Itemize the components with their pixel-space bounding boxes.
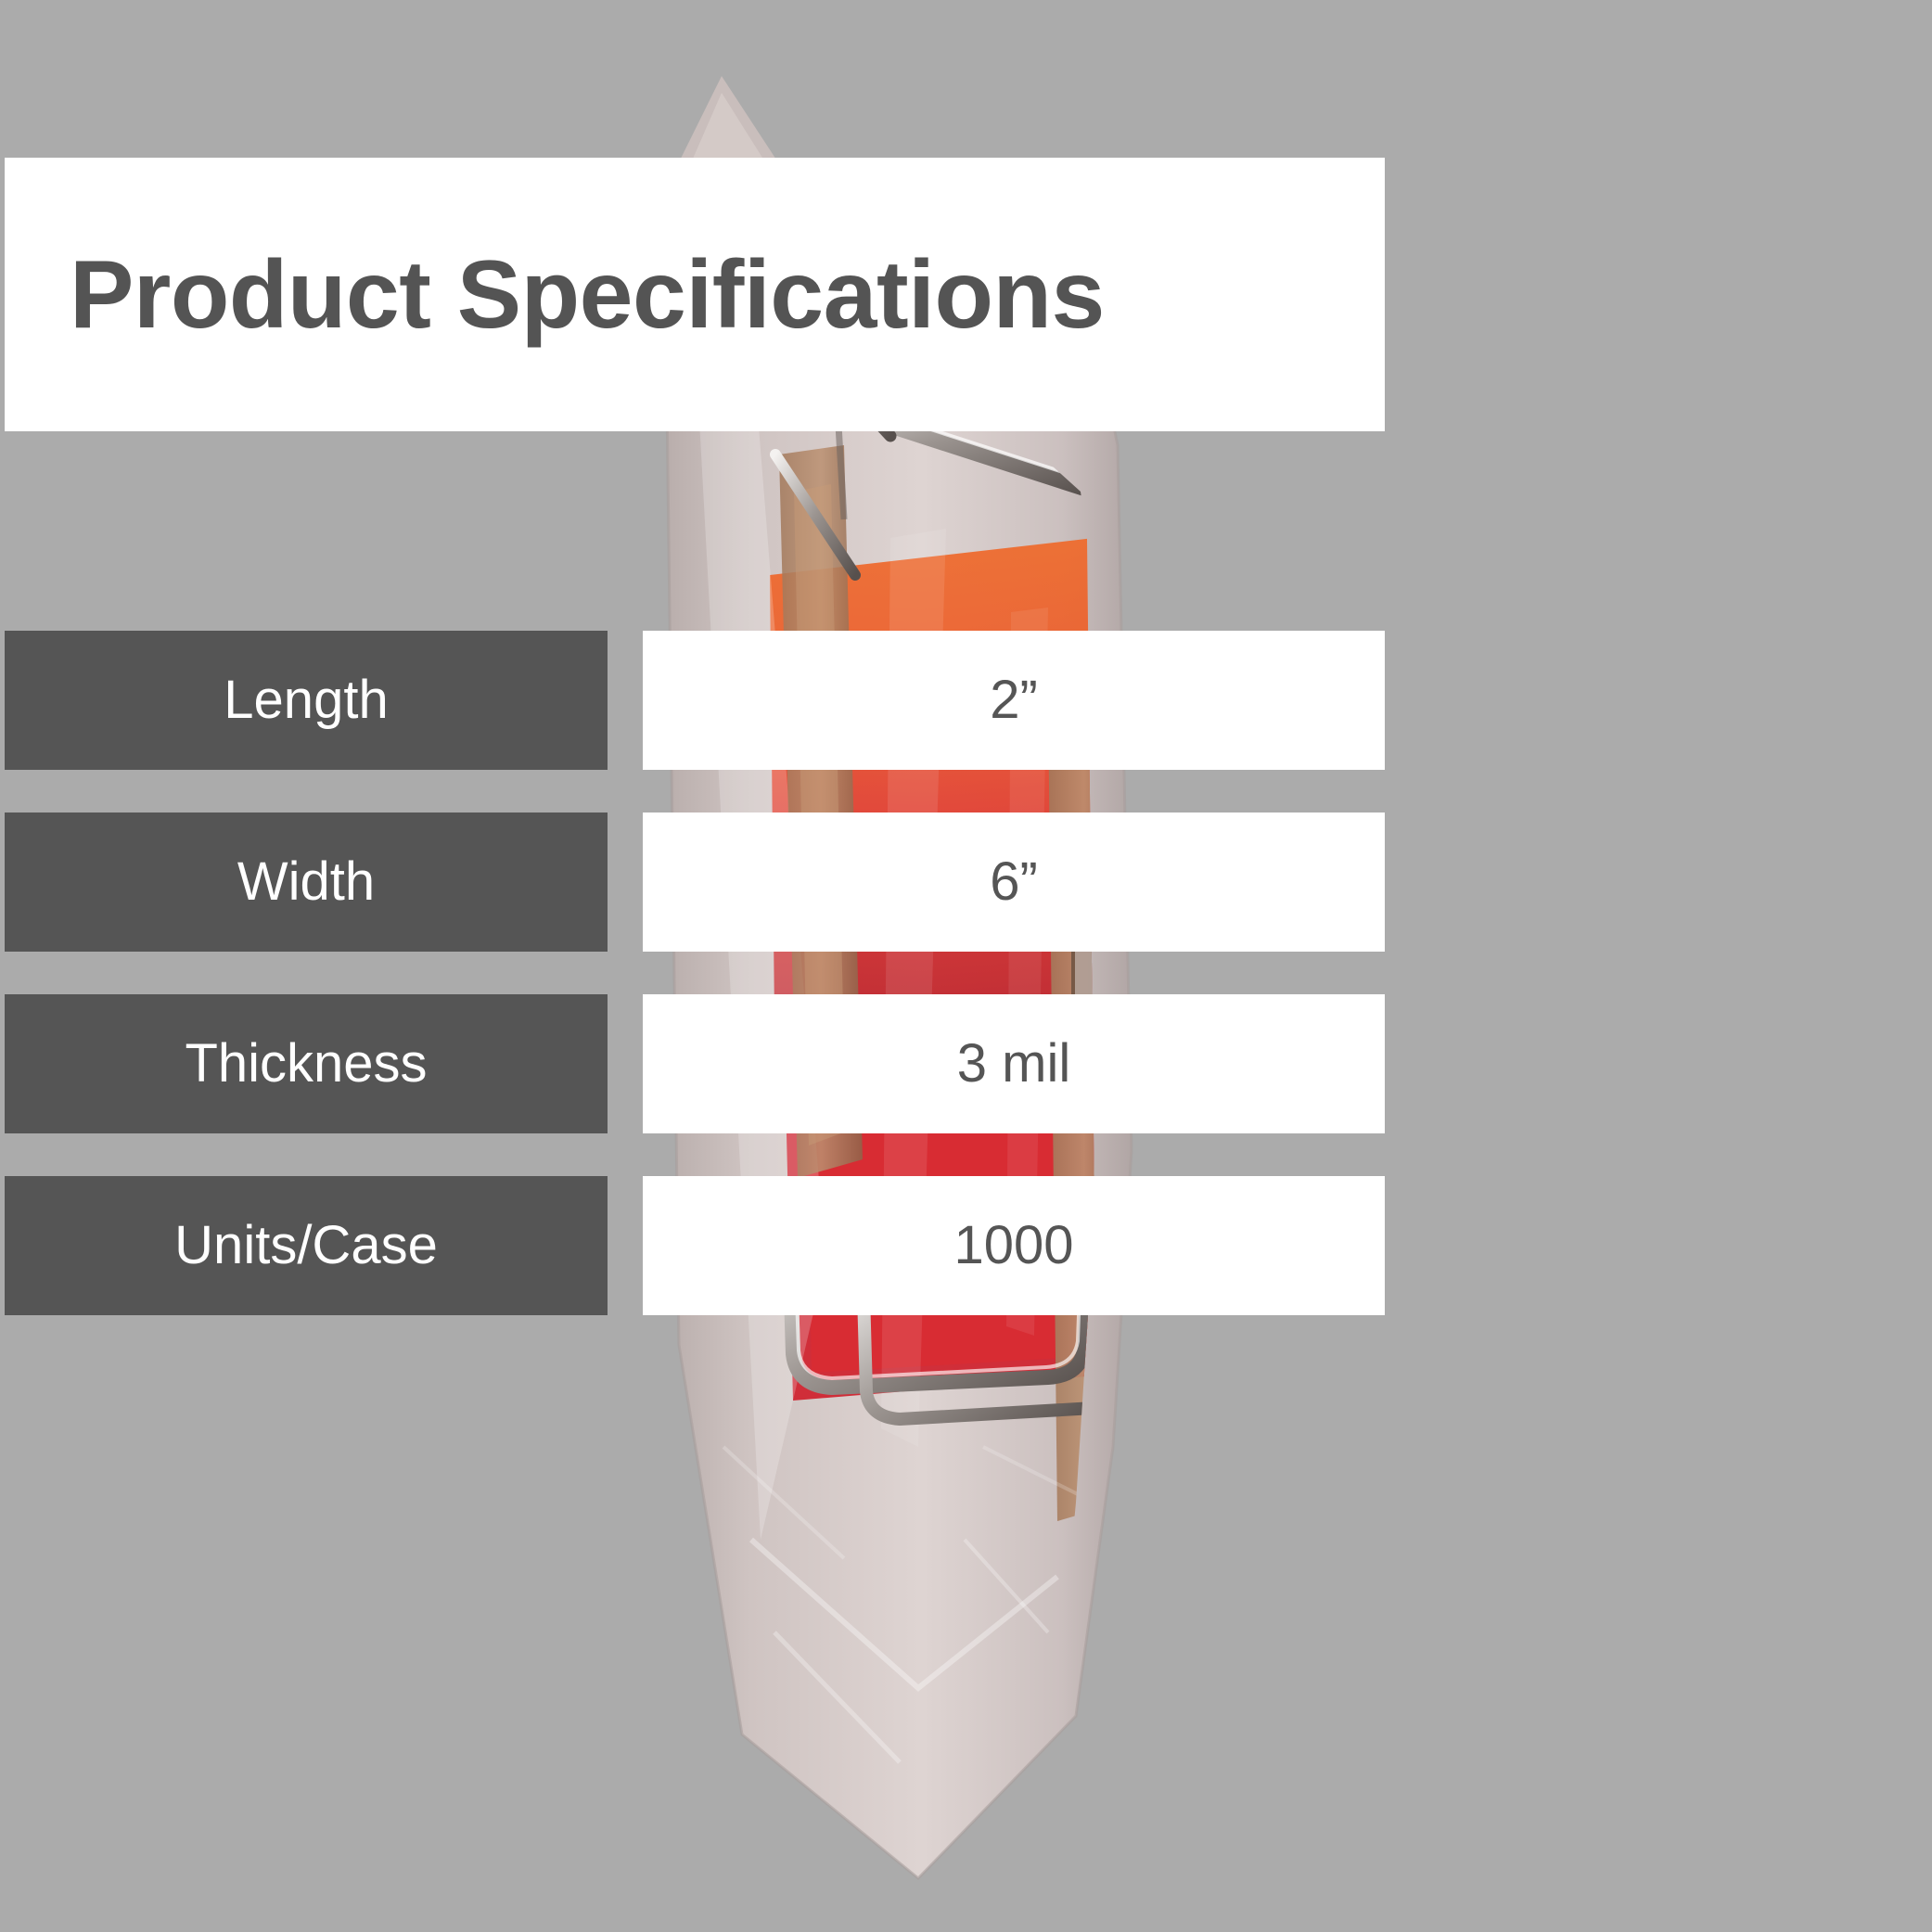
table-row: Thickness 3 mil [0, 994, 1391, 1133]
spec-value-text: 3 mil [957, 1037, 1070, 1091]
spec-label-width: Width [5, 812, 608, 952]
page-title: Product Specifications [5, 247, 1105, 343]
spec-label-units-per-case: Units/Case [5, 1176, 608, 1315]
table-row: Width 6” [0, 812, 1391, 952]
spec-value-text: 6” [990, 855, 1038, 909]
spec-value-thickness: 3 mil [643, 994, 1385, 1133]
spec-label-text: Length [224, 673, 388, 727]
table-row: Length 2” [0, 631, 1391, 770]
spec-label-text: Width [237, 855, 375, 909]
spec-table: Length 2” Width 6” Thickness 3 mil [0, 631, 1391, 1358]
spec-label-thickness: Thickness [5, 994, 608, 1133]
spec-value-text: 2” [990, 673, 1038, 727]
title-banner: Product Specifications [5, 158, 1385, 431]
spec-label-length: Length [5, 631, 608, 770]
product-spec-card: Product Specifications Length 2” Width 6… [0, 0, 1932, 1932]
spec-label-text: Thickness [185, 1037, 427, 1091]
spec-value-text: 1000 [953, 1219, 1073, 1273]
spec-value-length: 2” [643, 631, 1385, 770]
spec-label-text: Units/Case [174, 1219, 438, 1273]
spec-value-units-per-case: 1000 [643, 1176, 1385, 1315]
table-row: Units/Case 1000 [0, 1176, 1391, 1315]
spec-value-width: 6” [643, 812, 1385, 952]
